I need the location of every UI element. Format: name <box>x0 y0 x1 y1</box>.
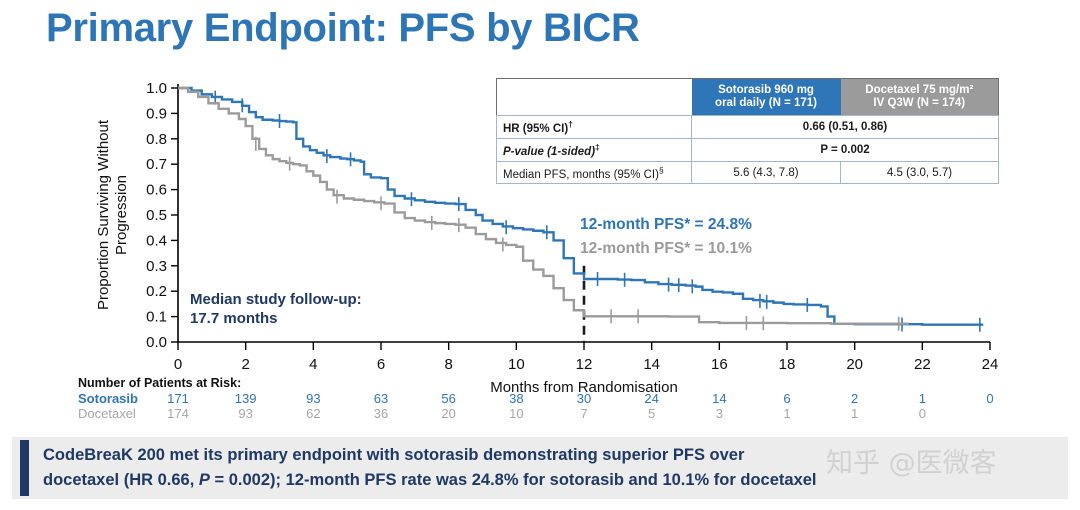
arm1-line1: Sotorasib 960 mg <box>718 84 814 96</box>
risk-value: 1 <box>835 406 875 421</box>
annotation-followup-line1: Median study follow-up: <box>190 290 362 309</box>
stats-header-sotorasib: Sotorasib 960 mg oral daily (N = 171) <box>692 79 841 116</box>
annotation-followup-line2: 17.7 months <box>190 309 278 328</box>
risk-value: 139 <box>226 391 266 406</box>
risk-row-label-sotorasib: Sotorasib <box>78 391 138 406</box>
stats-row-hr-label: HR (95% CI)† <box>497 116 692 139</box>
risk-value: 1 <box>767 406 807 421</box>
risk-value: 0 <box>970 391 1010 406</box>
hr-footnote-marker: † <box>568 119 573 129</box>
risk-value: 14 <box>699 391 739 406</box>
x-tick-label: 22 <box>914 356 931 373</box>
hr-label-text: HR (95% CI) <box>503 123 568 135</box>
banner-accent-bar <box>20 440 29 496</box>
y-axis-title-line1: Proportion Surviving Without <box>95 119 112 310</box>
risk-value: 6 <box>767 391 807 406</box>
x-tick-label: 6 <box>377 356 385 373</box>
risk-value: 56 <box>429 391 469 406</box>
risk-table: Number of Patients at Risk: Sotorasib 17… <box>78 376 1038 421</box>
risk-value: 174 <box>158 406 198 421</box>
risk-row-sotorasib: Sotorasib 171139936356383024146210 <box>78 391 1038 406</box>
annotation-pfs-docetaxel: 12-month PFS* = 10.1% <box>580 240 752 258</box>
banner-line2-b: = 0.002); 12-month PFS rate was 24.8% fo… <box>210 471 817 489</box>
risk-value: 30 <box>564 391 604 406</box>
stats-header-spacer <box>497 79 692 116</box>
risk-value: 24 <box>632 391 672 406</box>
risk-row-docetaxel: Docetaxel 1749362362010753110 <box>78 406 1038 421</box>
annotation-pfs-sotorasib: 12-month PFS* = 24.8% <box>580 216 752 234</box>
stats-table: Sotorasib 960 mg oral daily (N = 171) Do… <box>496 78 999 184</box>
arm2-line1: Docetaxel 75 mg/m² <box>865 84 973 96</box>
median-label-text: Median PFS, months (95% CI) <box>503 168 659 180</box>
risk-value: 171 <box>158 391 198 406</box>
stats-row-median-value-sotorasib: 5.6 (4.3, 7.8) <box>692 161 841 184</box>
risk-value: 10 <box>496 406 536 421</box>
stats-row-pvalue: P-value (1-sided)‡ P = 0.002 <box>497 138 999 161</box>
y-tick-label: 0.4 <box>146 232 167 249</box>
risk-row-label-docetaxel: Docetaxel <box>78 406 136 421</box>
y-tick-label: 0.2 <box>146 283 167 300</box>
risk-value: 62 <box>293 406 333 421</box>
stats-row-hr-value: 0.66 (0.51, 0.86) <box>692 116 999 139</box>
x-tick-label: 20 <box>846 356 863 373</box>
risk-value: 93 <box>293 391 333 406</box>
x-tick-label: 18 <box>779 356 796 373</box>
arm1-line2: oral daily (N = 171) <box>715 97 817 109</box>
median-footnote-marker: § <box>659 165 664 175</box>
y-tick-label: 0.8 <box>146 131 167 148</box>
banner-line-1: CodeBreaK 200 met its primary endpoint w… <box>43 443 817 468</box>
x-tick-label: 8 <box>444 356 452 373</box>
slide: Primary Endpoint: PFS by BICR 0.00.10.20… <box>0 0 1080 510</box>
y-tick-label: 0.6 <box>146 182 167 199</box>
y-tick-label: 0.5 <box>146 207 167 224</box>
stats-row-median-value-docetaxel: 4.5 (3.0, 5.7) <box>841 161 999 184</box>
pvalue-label-text: P-value (1-sided) <box>503 146 595 158</box>
stats-header-docetaxel: Docetaxel 75 mg/m² IV Q3W (N = 174) <box>841 79 999 116</box>
banner-line2-a: docetaxel (HR 0.66, <box>43 471 199 489</box>
risk-value: 93 <box>226 406 266 421</box>
x-tick-label: 12 <box>576 356 593 373</box>
risk-value: 36 <box>361 406 401 421</box>
y-tick-label: 0.7 <box>146 156 167 173</box>
risk-value: 3 <box>699 406 739 421</box>
x-tick-label: 24 <box>982 356 999 373</box>
x-tick-label: 0 <box>174 356 182 373</box>
x-tick-label: 4 <box>309 356 317 373</box>
x-tick-label: 16 <box>711 356 728 373</box>
stats-row-pvalue-value: P = 0.002 <box>692 138 999 161</box>
summary-banner: CodeBreaK 200 met its primary endpoint w… <box>12 437 1068 499</box>
risk-value: 38 <box>496 391 536 406</box>
y-axis-title-line2: Progression <box>113 175 130 255</box>
stats-row-median-label: Median PFS, months (95% CI)§ <box>497 161 692 184</box>
risk-value: 2 <box>835 391 875 406</box>
risk-value: 0 <box>902 406 942 421</box>
banner-text: CodeBreaK 200 met its primary endpoint w… <box>43 443 817 493</box>
y-tick-label: 0.9 <box>146 105 167 122</box>
risk-table-title: Number of Patients at Risk: <box>78 376 1038 390</box>
stats-row-median-pfs: Median PFS, months (95% CI)§ 5.6 (4.3, 7… <box>497 161 999 184</box>
stats-table-header-row: Sotorasib 960 mg oral daily (N = 171) Do… <box>497 79 999 116</box>
stats-row-hr: HR (95% CI)† 0.66 (0.51, 0.86) <box>497 116 999 139</box>
arm2-line2: IV Q3W (N = 174) <box>873 97 965 109</box>
y-tick-label: 0.3 <box>146 258 167 275</box>
risk-value: 7 <box>564 406 604 421</box>
pvalue-footnote-marker: ‡ <box>595 142 600 152</box>
x-tick-label: 14 <box>643 356 660 373</box>
banner-line-2: docetaxel (HR 0.66, P = 0.002); 12-month… <box>43 468 817 493</box>
stats-row-pvalue-label: P-value (1-sided)‡ <box>497 138 692 161</box>
y-tick-label: 0.1 <box>146 309 167 326</box>
page-title: Primary Endpoint: PFS by BICR <box>46 6 640 51</box>
risk-value: 63 <box>361 391 401 406</box>
x-tick-label: 2 <box>241 356 249 373</box>
banner-line2-p: P <box>199 471 210 489</box>
risk-value: 1 <box>902 391 942 406</box>
y-tick-label: 0.0 <box>146 334 167 351</box>
risk-value: 5 <box>632 406 672 421</box>
risk-value: 20 <box>429 406 469 421</box>
x-tick-label: 10 <box>508 356 525 373</box>
y-tick-label: 1.0 <box>146 80 167 97</box>
